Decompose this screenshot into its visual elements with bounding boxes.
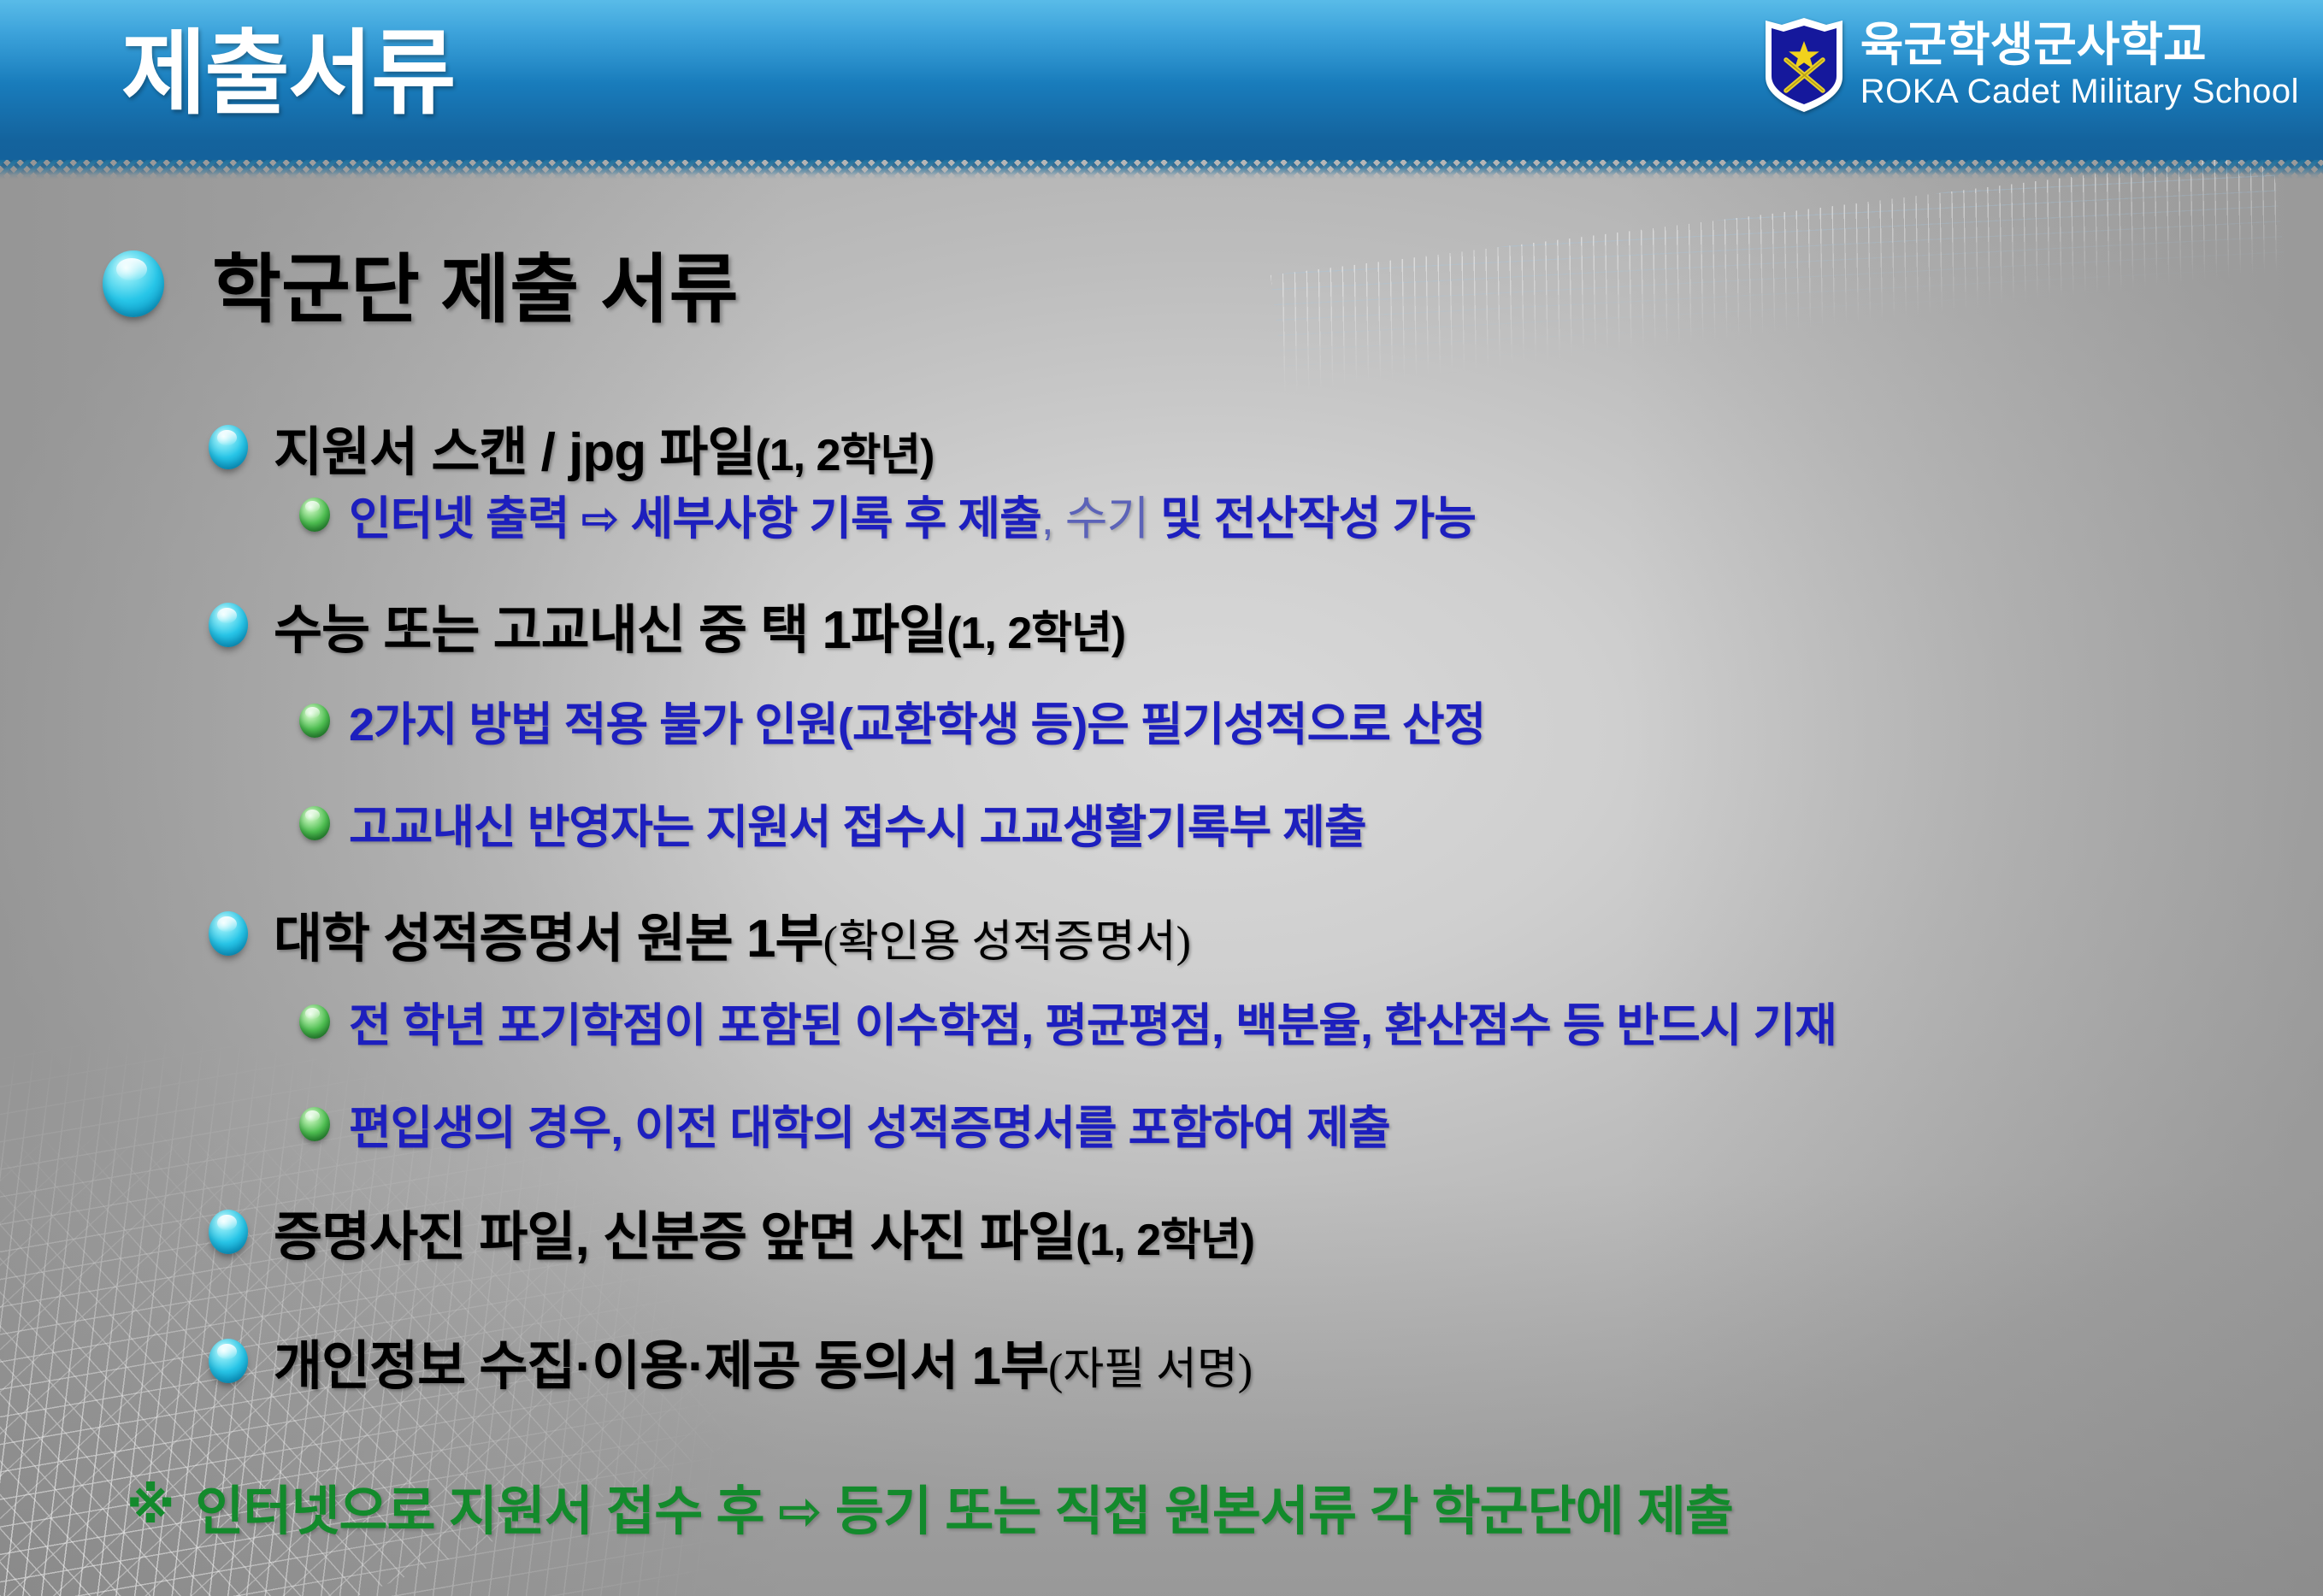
right-arrow-icon: ⇨ bbox=[778, 1482, 822, 1541]
list-item-paren-text: (확인용 성적증명서) bbox=[823, 918, 1191, 967]
slide-root: 제출서류 육군학생군사학교 bbox=[0, 0, 2323, 1596]
shield-star-crossed-swords-icon bbox=[1763, 15, 1845, 115]
green-sphere-bullet-icon bbox=[299, 704, 330, 738]
sub-list-item: 고교내신 반영자는 지원서 접수시 고교생활기록부 제출 bbox=[299, 789, 1366, 857]
list-item-main-text: 수능 또는 고교내신 중 택 1파일 bbox=[274, 601, 946, 660]
green-sphere-bullet-icon bbox=[299, 498, 330, 532]
list-item-label: 증명사진 파일, 신분증 앞면 사진 파일(1, 2학년) bbox=[274, 1193, 1254, 1270]
list-item-paren-text: (1, 2학년) bbox=[946, 609, 1125, 658]
green-sphere-bullet-icon bbox=[299, 1107, 330, 1141]
sub-list-item-label: 2가지 방법 적용 불가 인원(교환학생 등)은 필기성적으로 산정 bbox=[349, 686, 1485, 754]
page-title: 제출서류 bbox=[121, 7, 454, 141]
sub-list-item-label: 인터넷 출력 ⇨ 세부사항 기록 후 제출, 수기 및 전산작성 가능 bbox=[349, 480, 1476, 548]
list-item-label: 대학 성적증명서 원본 1부(확인용 성적증명서) bbox=[274, 895, 1191, 972]
slide-content: 학군단 제출 서류 지원서 스캔 / jpg 파일(1, 2학년) 인터넷 출력… bbox=[0, 162, 2323, 1596]
list-item: 개인정보 수집·이용·제공 동의서 1부(자필 서명) bbox=[209, 1322, 1253, 1399]
list-item-label: 수능 또는 고교내신 중 택 1파일(1, 2학년) bbox=[274, 586, 1125, 663]
list-item-paren-text: (1, 2학년) bbox=[755, 431, 934, 480]
list-item: 지원서 스캔 / jpg 파일(1, 2학년) bbox=[209, 409, 934, 486]
blue-sphere-bullet-icon bbox=[209, 1339, 248, 1383]
sub-list-item-label: 전 학년 포기학점이 포함된 이수학점, 평균평점, 백분율, 환산점수 등 반… bbox=[349, 987, 1837, 1055]
list-item-label: 개인정보 수집·이용·제공 동의서 1부(자필 서명) bbox=[274, 1322, 1253, 1399]
sub-list-item: 전 학년 포기학점이 포함된 이수학점, 평균평점, 백분율, 환산점수 등 반… bbox=[299, 987, 1837, 1055]
note-text-segment: 인터넷으로 지원서 접수 후 bbox=[195, 1482, 777, 1541]
right-arrow-icon: ⇨ bbox=[581, 493, 618, 545]
list-item-paren-text: (1, 2학년) bbox=[1076, 1216, 1254, 1265]
footer-note-label: 인터넷으로 지원서 접수 후 ⇨ 등기 또는 직접 원본서류 각 학군단에 제출 bbox=[195, 1468, 1733, 1545]
sub-text-segment: 세부사항 기록 후 제출 bbox=[619, 493, 1041, 545]
list-item-main-text: 증명사진 파일, 신분증 앞면 사진 파일 bbox=[274, 1208, 1076, 1267]
reference-mark-icon: ※ bbox=[127, 1481, 174, 1531]
footer-note: ※ 인터넷으로 지원서 접수 후 ⇨ 등기 또는 직접 원본서류 각 학군단에 … bbox=[127, 1468, 1733, 1545]
list-item-main-text: 대학 성적증명서 원본 1부 bbox=[274, 910, 823, 969]
blue-sphere-bullet-icon bbox=[209, 1210, 248, 1254]
slide-header: 제출서류 육군학생군사학교 bbox=[0, 0, 2323, 160]
list-item-main-text: 개인정보 수집·이용·제공 동의서 1부 bbox=[274, 1337, 1048, 1396]
sub-text-segment: 인터넷 출력 bbox=[349, 493, 581, 545]
sub-list-item: 인터넷 출력 ⇨ 세부사항 기록 후 제출, 수기 및 전산작성 가능 bbox=[299, 480, 1476, 548]
list-item: 대학 성적증명서 원본 1부(확인용 성적증명서) bbox=[209, 895, 1191, 972]
brand-text: 육군학생군사학교 ROKA Cadet Military School bbox=[1860, 21, 2299, 109]
green-sphere-bullet-icon bbox=[299, 806, 330, 840]
list-item-paren-text: (자필 서명) bbox=[1048, 1346, 1253, 1394]
sub-list-item-label: 편입생의 경우, 이전 대학의 성적증명서를 포함하여 제출 bbox=[349, 1090, 1390, 1157]
note-text-segment: 등기 또는 직접 원본서류 각 학군단에 제출 bbox=[822, 1482, 1733, 1541]
section-heading-row: 학군단 제출 서류 bbox=[103, 229, 739, 338]
sub-list-item-label: 고교내신 반영자는 지원서 접수시 고교생활기록부 제출 bbox=[349, 789, 1366, 857]
list-item: 수능 또는 고교내신 중 택 1파일(1, 2학년) bbox=[209, 586, 1125, 663]
school-brand: 육군학생군사학교 ROKA Cadet Military School bbox=[1763, 15, 2299, 115]
blue-sphere-bullet-icon bbox=[209, 603, 248, 647]
sub-list-item: 2가지 방법 적용 불가 인원(교환학생 등)은 필기성적으로 산정 bbox=[299, 686, 1485, 754]
blue-sphere-bullet-icon bbox=[103, 250, 164, 317]
blue-sphere-bullet-icon bbox=[209, 911, 248, 956]
list-item-label: 지원서 스캔 / jpg 파일(1, 2학년) bbox=[274, 409, 934, 486]
brand-name-korean: 육군학생군사학교 bbox=[1860, 21, 2207, 70]
sub-list-item: 편입생의 경우, 이전 대학의 성적증명서를 포함하여 제출 bbox=[299, 1090, 1390, 1157]
brand-name-english: ROKA Cadet Military School bbox=[1860, 74, 2299, 109]
list-item-main-text: 지원서 스캔 / jpg 파일 bbox=[274, 423, 755, 482]
sub-text-segment: 및 전산작성 가능 bbox=[1160, 493, 1476, 545]
sub-text-segment-dim: , 수기 bbox=[1041, 493, 1160, 545]
blue-sphere-bullet-icon bbox=[209, 425, 248, 469]
green-sphere-bullet-icon bbox=[299, 1004, 330, 1039]
section-heading-label: 학군단 제출 서류 bbox=[212, 229, 739, 338]
list-item: 증명사진 파일, 신분증 앞면 사진 파일(1, 2학년) bbox=[209, 1193, 1254, 1270]
